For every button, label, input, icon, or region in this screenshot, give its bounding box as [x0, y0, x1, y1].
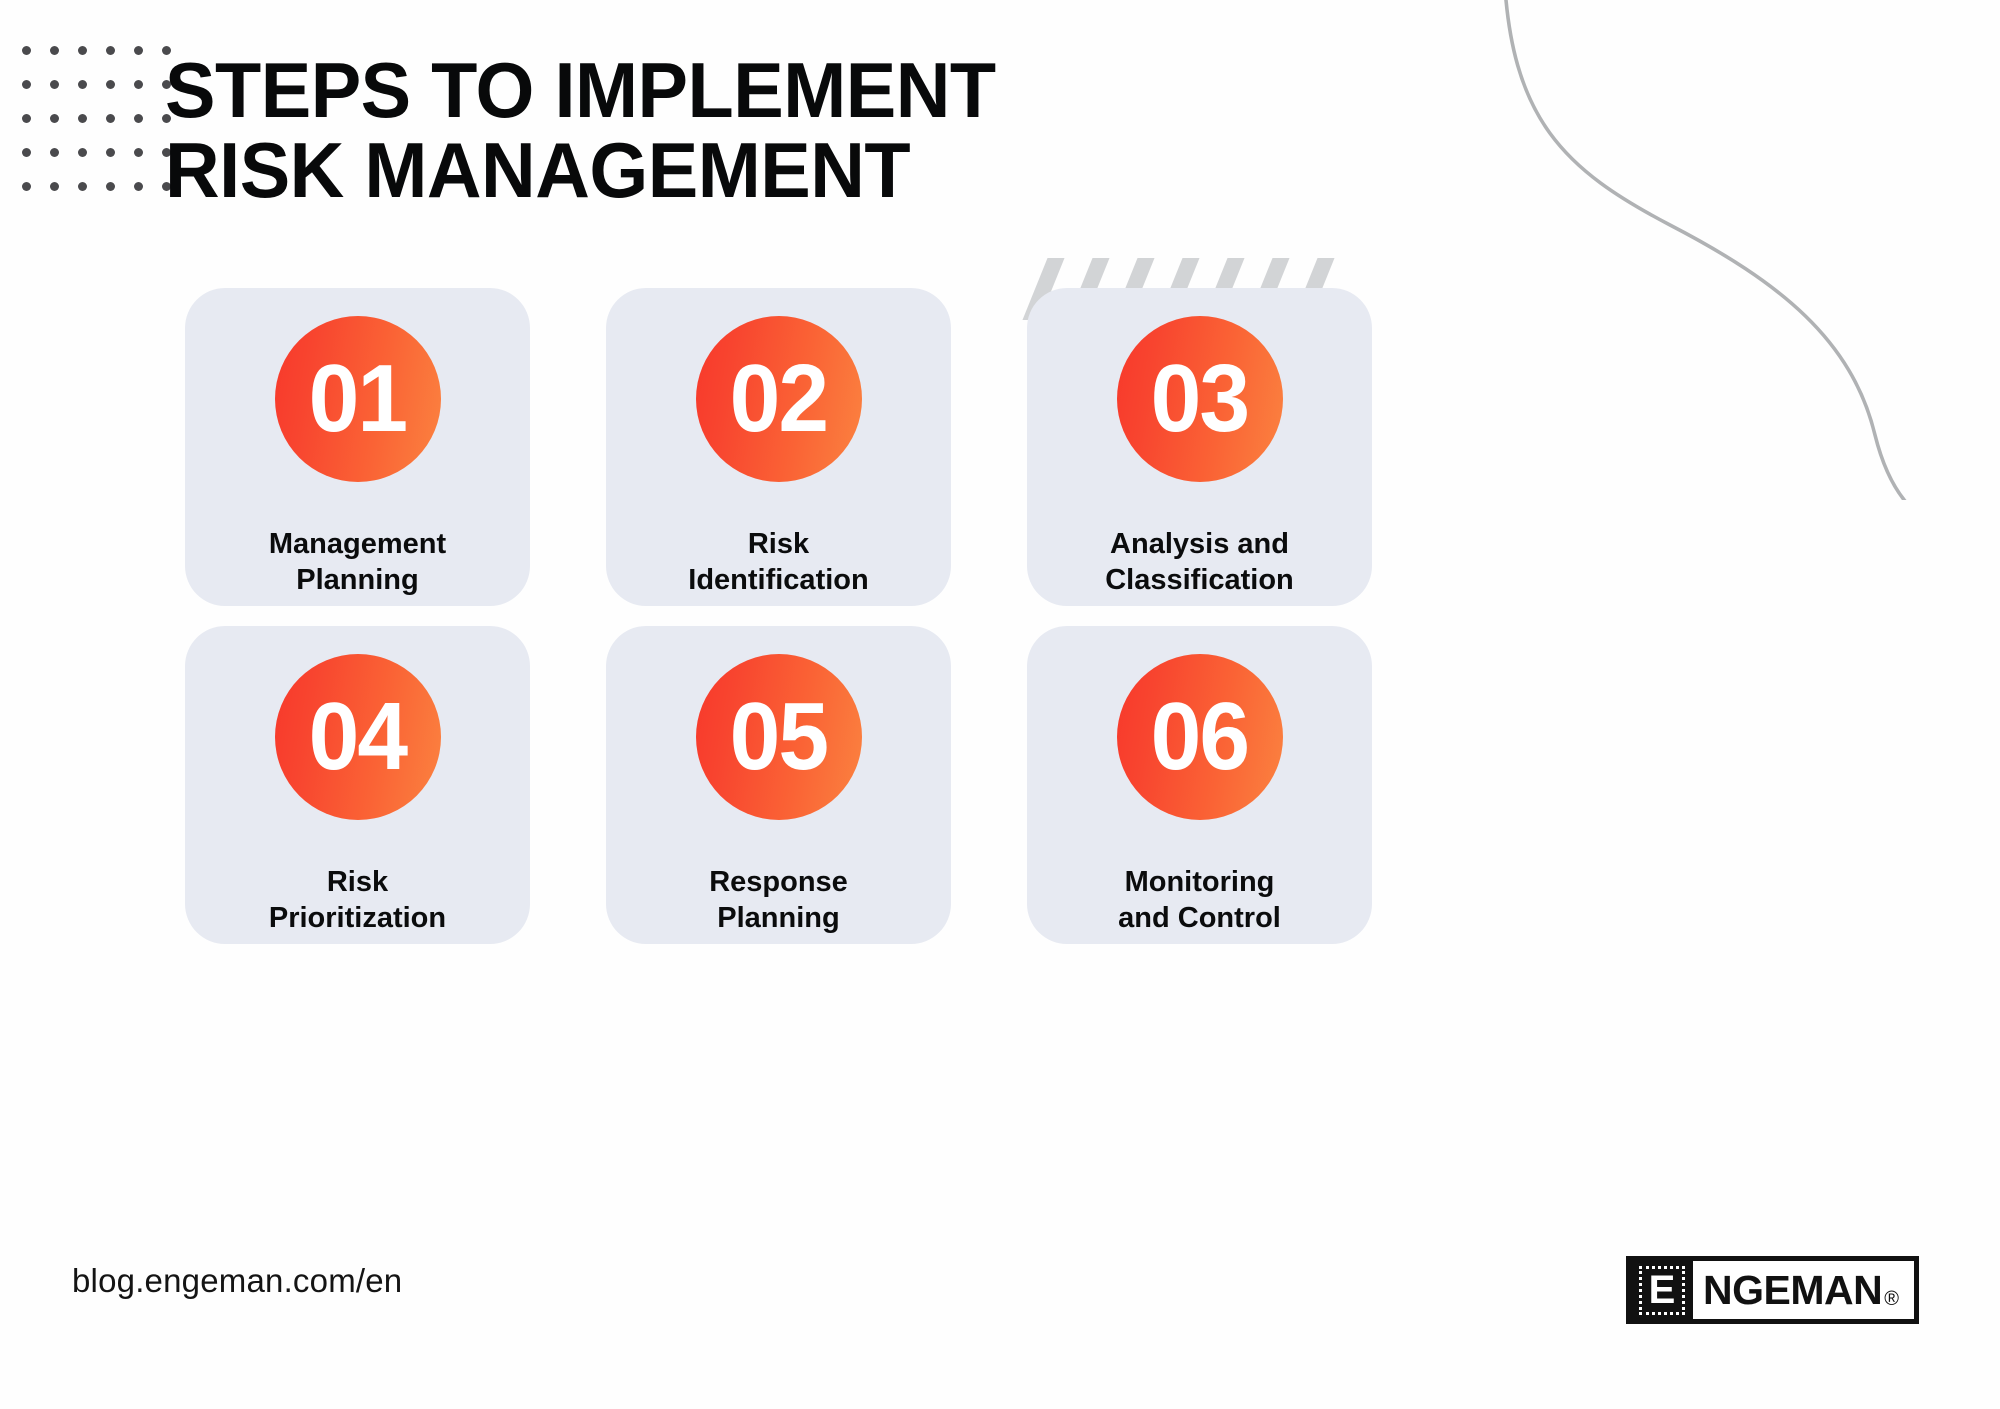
step-number-badge-05: 05 — [696, 654, 862, 820]
step-card-03[interactable]: 03 Analysis and Classification — [1027, 288, 1372, 606]
step-label-01: Management Planning — [255, 526, 460, 598]
grid-dot — [22, 182, 31, 191]
step-number-badge-04: 04 — [275, 654, 441, 820]
step-label-04: Risk Prioritization — [255, 864, 460, 936]
infographic-page: STEPS TO IMPLEMENT RISK MANAGEMENT 01 Ma… — [0, 0, 2000, 1409]
logo-wordmark: NGEMAN ® — [1693, 1261, 1914, 1319]
grid-dot — [106, 182, 115, 191]
step-card-05[interactable]: 05 Response Planning — [606, 626, 951, 944]
curved-line-decoration — [1480, 0, 2000, 500]
step-number-text: 02 — [730, 351, 828, 447]
step-label-03: Analysis and Classification — [1091, 526, 1308, 598]
step-card-01[interactable]: 01 Management Planning — [185, 288, 530, 606]
grid-dot — [78, 46, 87, 55]
grid-dot — [78, 80, 87, 89]
grid-dot — [50, 148, 59, 157]
grid-dot — [134, 114, 143, 123]
grid-dot — [50, 114, 59, 123]
step-card-04[interactable]: 04 Risk Prioritization — [185, 626, 530, 944]
page-title: STEPS TO IMPLEMENT RISK MANAGEMENT — [165, 50, 1265, 210]
grid-dot — [22, 80, 31, 89]
step-label-05: Response Planning — [695, 864, 862, 936]
grid-dot — [22, 114, 31, 123]
grid-dot — [78, 148, 87, 157]
steps-grid: 01 Management Planning 02 Risk Identific… — [185, 288, 1372, 944]
step-number-text: 03 — [1151, 351, 1249, 447]
grid-dot — [134, 148, 143, 157]
step-number-text: 01 — [309, 351, 407, 447]
grid-dot — [50, 80, 59, 89]
grid-dot — [106, 148, 115, 157]
step-number-text: 05 — [730, 689, 828, 785]
grid-dot — [50, 46, 59, 55]
grid-dot — [78, 182, 87, 191]
step-label-02: Risk Identification — [674, 526, 882, 598]
step-label-06: Monitoring and Control — [1104, 864, 1295, 936]
grid-dot — [106, 46, 115, 55]
step-number-badge-03: 03 — [1117, 316, 1283, 482]
step-card-06[interactable]: 06 Monitoring and Control — [1027, 626, 1372, 944]
step-number-text: 04 — [309, 689, 407, 785]
logo-wordmark-text: NGEMAN — [1703, 1270, 1882, 1311]
step-number-badge-06: 06 — [1117, 654, 1283, 820]
step-card-02[interactable]: 02 Risk Identification — [606, 288, 951, 606]
grid-dot — [22, 148, 31, 157]
step-number-badge-01: 01 — [275, 316, 441, 482]
grid-dot — [134, 80, 143, 89]
logo-chip-icon: E — [1631, 1261, 1693, 1319]
registered-trademark-icon: ® — [1882, 1288, 1899, 1319]
grid-dot — [106, 114, 115, 123]
grid-dot — [134, 46, 143, 55]
step-number-badge-02: 02 — [696, 316, 862, 482]
grid-dot — [78, 114, 87, 123]
grid-dot — [134, 182, 143, 191]
grid-dot — [22, 46, 31, 55]
engeman-logo: E NGEMAN ® — [1626, 1256, 1919, 1324]
page-title-line-2: RISK MANAGEMENT — [165, 130, 1232, 210]
logo-mark-letter: E — [1639, 1266, 1686, 1315]
step-number-text: 06 — [1151, 689, 1249, 785]
grid-dot — [106, 80, 115, 89]
grid-dot — [50, 182, 59, 191]
page-title-line-1: STEPS TO IMPLEMENT — [165, 50, 1232, 130]
footer-url[interactable]: blog.engeman.com/en — [72, 1262, 402, 1300]
